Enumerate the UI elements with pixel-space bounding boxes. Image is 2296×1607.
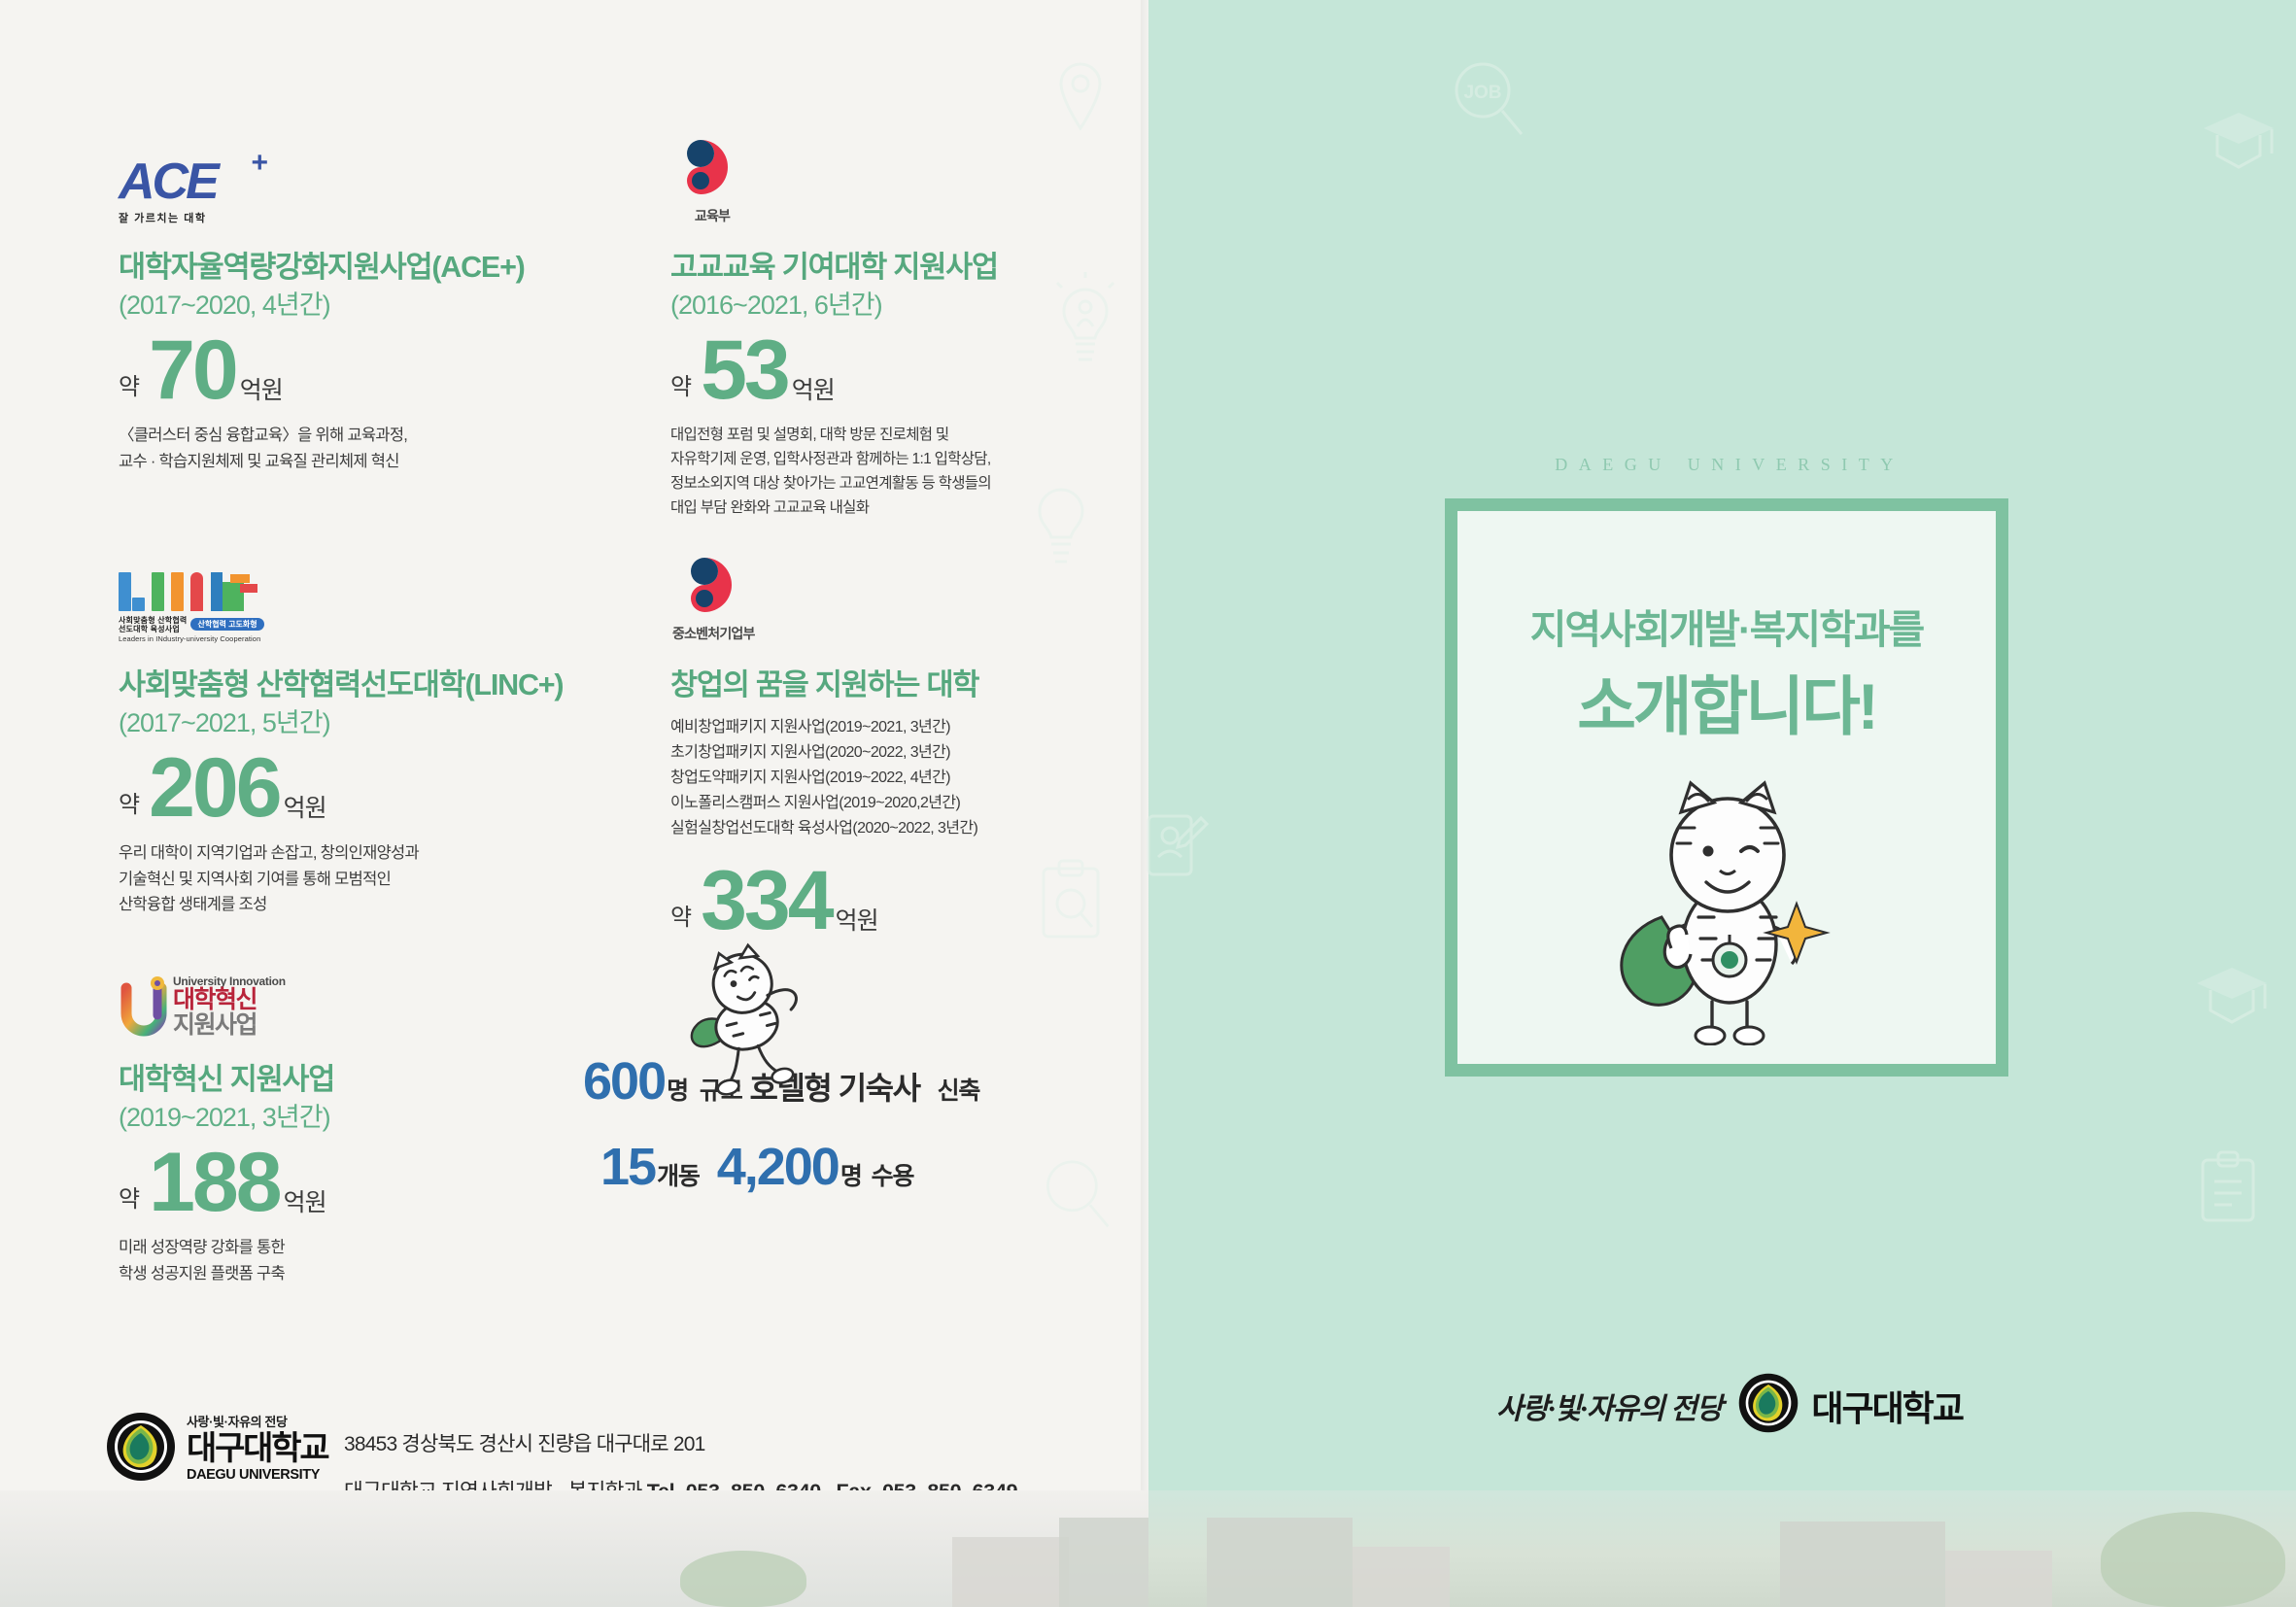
brochure-page: ACE + 잘 가르치는 대학 대학자율역량강화지원사업(ACE+) (2017… [0,0,2296,1607]
program-title: 사회맞춤형 산학협력선도대학(LINC+) [119,668,585,703]
description-line: 우리 대학이 지역기업과 손잡고, 창의인재양성과 [119,840,585,867]
description-line: 〈클러스터 중심 융합교육〉을 위해 교육과정, [119,423,585,449]
dormitory-line-1: 600 명 규모 호텔형 기숙사 신축 [583,1051,1088,1111]
amount-prefix: 약 [670,367,691,401]
startup-subprogram: 실험실창업선도대학 육성사업(2020~2022, 3년간) [670,816,1088,841]
dormitory-line-2: 15 개동 4,200 명 수용 [583,1137,1088,1197]
program-description: 〈클러스터 중심 융합교육〉을 위해 교육과정, 교수 · 학습지원체제 및 교… [119,423,585,474]
description-line: 대입전형 포럼 및 설명회, 대학 방문 진로체험 및 [670,423,1088,447]
cover-university-name: 대구대학교 [1811,1381,1963,1431]
footer-contact: 38453 경상북도 경산시 진량읍 대구대로 201 대구대학교 지역사회개발… [344,1411,1017,1503]
inside-panel: ACE + 잘 가르치는 대학 대학자율역량강화지원사업(ACE+) (2017… [0,0,1148,1607]
ui-wordmark: University Innovation 대학혁신 지원사업 [173,974,286,1038]
amount-prefix: 약 [119,367,139,401]
amount-prefix: 약 [670,898,691,932]
taegeuk-icon [674,555,735,615]
lightbulb-icon [1022,476,1100,568]
program-title: 대학자율역량강화지원사업(ACE+) [119,251,585,286]
cover-frame: 지역사회개발·복지학과를 소개합니다! [1445,498,2008,1077]
linc-tagline-line1: 사회맞춤형 산학협력 [119,616,187,625]
dorm-capacity-number: 600 [583,1051,665,1111]
bottom-photo-band-right [1148,1490,2296,1607]
startup-subprogram: 이노폴리스캠퍼스 지원사업(2019~2020,2년간) [670,791,1088,816]
linc-plus-logo: 사회맞춤형 산학협력 선도대학 육성사업 산학협력 고도화형 Leaders i… [119,554,585,643]
ui-mark-icon [119,976,173,1037]
graduation-cap-icon [2200,107,2278,175]
program-block-ace: ACE + 잘 가르치는 대학 대학자율역량강화지원사업(ACE+) (2017… [119,136,585,554]
ministry-name: 중소벤처기업부 [672,624,787,643]
program-block-linc: 사회맞춤형 산학협력 선도대학 육성사업 산학협력 고도화형 Leaders i… [119,554,585,962]
startup-subprogram: 초기창업패키지 지원사업(2020~2022, 3년간) [670,740,1088,766]
daegu-university-seal-icon [1737,1372,1799,1439]
program-description: 우리 대학이 지역기업과 손잡고, 창의인재양성과 기술혁신 및 지역사회 기여… [119,840,585,918]
program-amount: 약 53 억원 [670,332,1088,409]
amount-unit: 억원 [284,789,326,824]
cover-kicker: DAEGU UNIVERSITY [1438,455,2021,475]
ui-logo-ko-1: 대학혁신 [173,988,286,1013]
program-amount: 약 334 억원 [670,863,1088,940]
amount-prefix: 약 [119,785,139,819]
footer: 사랑·빛·자유의 전당 대구대학교 DAEGU UNIVERSITY 38453… [105,1411,1017,1503]
dorm-action-label: 신축 [938,1072,980,1107]
dorm-occupancy-label: 수용 [872,1157,914,1192]
ace-wordmark: ACE [119,156,264,207]
amount-unit: 억원 [284,1183,326,1218]
program-block-innovation: University Innovation 대학혁신 지원사업 대학혁신 지원사… [119,962,585,1286]
program-title: 창업의 꿈을 지원하는 대학 [670,668,1088,703]
clipboard-icon [2193,1146,2263,1228]
location-pin-icon [1051,58,1110,136]
program-period: (2016~2021, 6년간) [670,290,1088,323]
cover-slogan: 사랑·빛·자유의 전당 [1496,1385,1722,1427]
taegeuk-icon [670,137,731,197]
daegu-university-logo: 사랑·빛·자유의 전당 대구대학교 DAEGU UNIVERSITY [105,1411,330,1483]
daegu-university-seal-icon [105,1411,177,1483]
program-block-startup: 중소벤처기업부 창업의 꿈을 지원하는 대학 예비창업패키지 지원사업(2019… [670,554,1088,940]
amount-value: 206 [149,750,280,827]
program-period: (2017~2021, 5년간) [119,707,585,740]
daegu-university-wordmark: 사랑·빛·자유의 전당 대구대학교 DAEGU UNIVERSITY [187,1412,327,1483]
university-slogan: 사랑·빛·자유의 전당 [187,1412,327,1430]
university-name-en: DAEGU UNIVERSITY [187,1467,327,1483]
ui-logo-ko-2: 지원사업 [173,1013,286,1039]
amount-value: 70 [149,332,236,409]
startup-subprogram: 예비창업패키지 지원사업(2019~2021, 3년간) [670,715,1088,740]
dorm-building-number: 15 [600,1137,655,1197]
svg-text:JOB: JOB [1463,83,1501,103]
description-line: 교수 · 학습지원체제 및 교육질 관리체제 혁신 [119,449,585,475]
ministry-of-education-logo: 교육부 [670,136,1088,225]
dorm-building-unit: 개동 [657,1157,700,1192]
amount-value: 334 [701,863,832,940]
amount-prefix: 약 [119,1180,139,1214]
linc-tagline: 사회맞춤형 산학협력 선도대학 육성사업 산학협력 고도화형 Leaders i… [119,616,274,643]
startup-subprogram-list: 예비창업패키지 지원사업(2019~2021, 3년간) 초기창업패키지 지원사… [670,715,1088,841]
cover-panel: JOB JOB [1148,0,2296,1607]
ace-plus-logo: ACE + 잘 가르치는 대학 [119,136,585,225]
university-innovation-logo: University Innovation 대학혁신 지원사업 [119,962,585,1038]
program-title: 대학혁신 지원사업 [119,1063,585,1098]
linc-tagline-en: Leaders in INdustry-university Cooperati… [119,634,274,643]
program-description: 미래 성장역량 강화를 통한 학생 성공지원 플랫폼 구축 [119,1235,585,1286]
amount-unit: 억원 [792,371,835,406]
ace-plus-mark: + [251,147,268,180]
dorm-total-unit: 명 [840,1157,862,1192]
program-amount: 약 188 억원 [119,1145,585,1221]
tiger-mascot-running-icon [675,940,821,1101]
description-line: 산학융합 생태계를 조성 [119,892,585,918]
dorm-total-number: 4,200 [717,1137,839,1197]
search-icon [1042,1156,1112,1234]
cover-title-line-2: 소개합니다! [1457,655,1996,748]
university-name-ko: 대구대학교 [187,1432,327,1465]
linc-pill: 산학협력 고도화형 [190,618,263,631]
description-line: 자유학기제 운영, 입학사정관과 함께하는 1:1 입학상담, [670,447,1088,471]
job-search-icon: JOB [1450,58,1525,142]
dormitory-block: 600 명 규모 호텔형 기숙사 신축 15 개동 4,200 명 수용 [583,1047,1088,1197]
clipboard-search-icon [1032,855,1110,947]
idea-person-bulb-icon [1046,272,1124,369]
description-line: 기술혁신 및 지역사회 기여를 통해 모범적인 [119,867,585,893]
program-column-left: ACE + 잘 가르치는 대학 대학자율역량강화지원사업(ACE+) (2017… [119,136,585,1286]
tiger-mascot-thumbs-up-icon [1605,754,1848,1050]
cover-title-line-1: 지역사회개발·복지학과를 [1457,597,1996,655]
description-line: 학생 성공지원 플랫폼 구축 [119,1261,585,1287]
graduation-cap-icon [2193,962,2271,1030]
program-title: 고교교육 기여대학 지원사업 [670,251,1088,286]
amount-unit: 억원 [836,902,878,937]
ace-tagline: 잘 가르치는 대학 [119,210,264,225]
program-period: (2017~2020, 4년간) [119,290,585,323]
amount-unit: 억원 [240,371,283,406]
linc-wordmark [119,566,274,611]
program-amount: 약 70 억원 [119,332,585,409]
cover-footer-logo: 사랑·빛·자유의 전당 대구대학교 [1457,1372,2002,1439]
startup-subprogram: 창업도약패키지 지원사업(2019~2022, 4년간) [670,766,1088,791]
linc-tagline-line2: 선도대학 육성사업 [119,625,187,633]
footer-address: 38453 경상북도 경산시 진량읍 대구대로 201 [344,1434,1017,1455]
description-line: 미래 성장역량 강화를 통한 [119,1235,585,1261]
amount-value: 188 [149,1145,280,1221]
program-amount: 약 206 억원 [119,750,585,827]
amount-value: 53 [701,332,788,409]
program-period: (2019~2021, 3년간) [119,1102,585,1135]
ministry-name: 교육부 [670,206,754,225]
id-card-pen-icon [1141,806,1214,884]
